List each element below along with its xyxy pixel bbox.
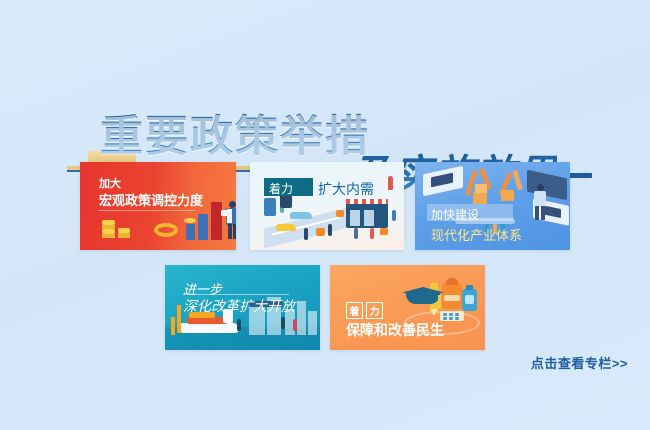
card-5-line1-boxes: 着 力 — [346, 302, 383, 319]
banner-stage: 重要政策举措 及实施效果 加大 宏观政策调控力度 — [0, 0, 650, 430]
card-5-line1-char-2: 力 — [366, 302, 383, 319]
policy-card-livelihood[interactable]: 着 力 保障和改善民生 — [330, 265, 485, 350]
policy-card-reform-opening[interactable]: 进一步 深化改革扩大开放 — [165, 265, 320, 350]
policy-card-modern-industry[interactable]: 加快建设 现代化产业体系 — [415, 162, 570, 250]
card-5-line2: 保障和改善民生 — [346, 323, 444, 338]
card-1-line2: 宏观政策调控力度 — [99, 193, 203, 208]
policy-card-macro-control[interactable]: 加大 宏观政策调控力度 — [80, 162, 236, 250]
page-title-primary: 重要政策举措 — [100, 113, 370, 161]
card-3-line1: 加快建设 — [431, 206, 479, 223]
card-5-line1-char-1: 着 — [346, 302, 363, 319]
banner-title-group: 重要政策举措 及实施效果 — [0, 55, 650, 150]
card-1-line1: 加大 — [99, 178, 121, 191]
card-1-divider — [99, 210, 195, 211]
card-2-line1: 着力 — [269, 180, 293, 197]
policy-card-domestic-demand[interactable]: 着力 扩大内需 — [250, 162, 404, 250]
card-3-line2: 现代化产业体系 — [431, 225, 522, 244]
card-4-line2: 深化改革扩大开放 — [183, 296, 295, 316]
card-2-line2: 扩大内需 — [318, 179, 374, 199]
view-column-link[interactable]: 点击查看专栏>> — [531, 353, 628, 372]
